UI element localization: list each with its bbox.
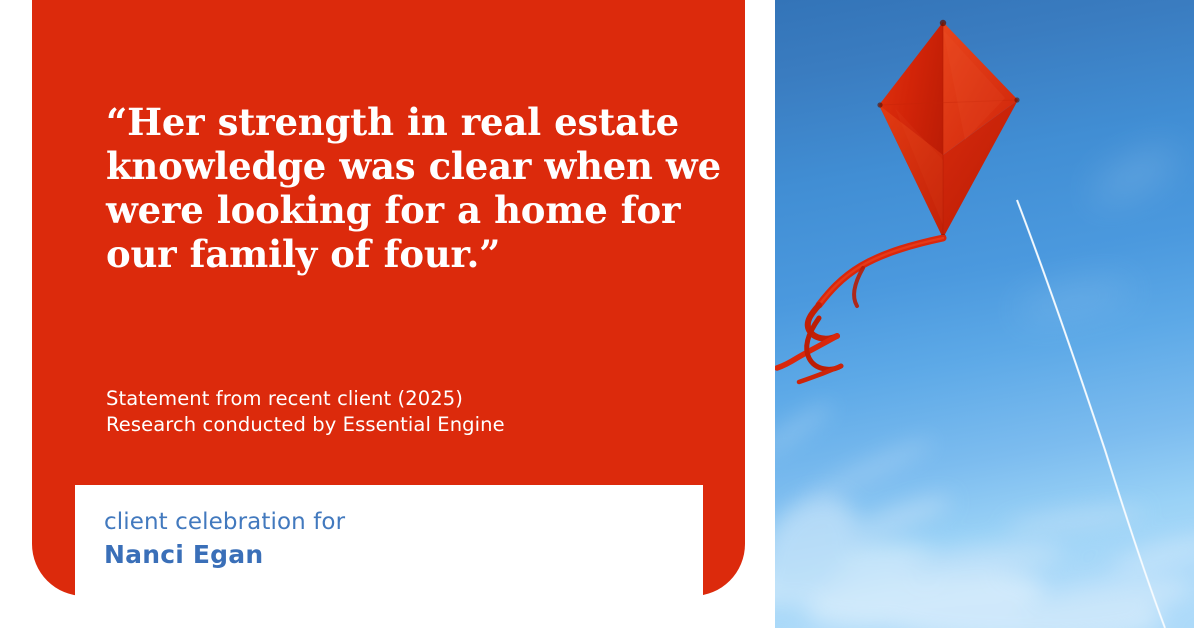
- name-card-eyebrow: client celebration for: [104, 507, 664, 538]
- name-card-agent-name: Nanci Egan: [104, 538, 664, 572]
- attribution-research: Research conducted by Essential Engine: [106, 412, 726, 438]
- testimonial-card-root: “Her strength in real estate knowledge w…: [0, 0, 1194, 628]
- testimonial-quote: “Her strength in real estate knowledge w…: [106, 100, 746, 276]
- name-card-content: client celebration for Nanci Egan: [104, 507, 664, 572]
- attribution-block: Statement from recent client (2025) Rese…: [106, 386, 726, 438]
- kite-photo: [775, 0, 1194, 628]
- attribution-source: Statement from recent client (2025): [106, 386, 726, 412]
- kite-photo-illustration: [775, 0, 1194, 628]
- quote-block: “Her strength in real estate knowledge w…: [106, 100, 746, 276]
- name-card: client celebration for Nanci Egan: [75, 485, 703, 628]
